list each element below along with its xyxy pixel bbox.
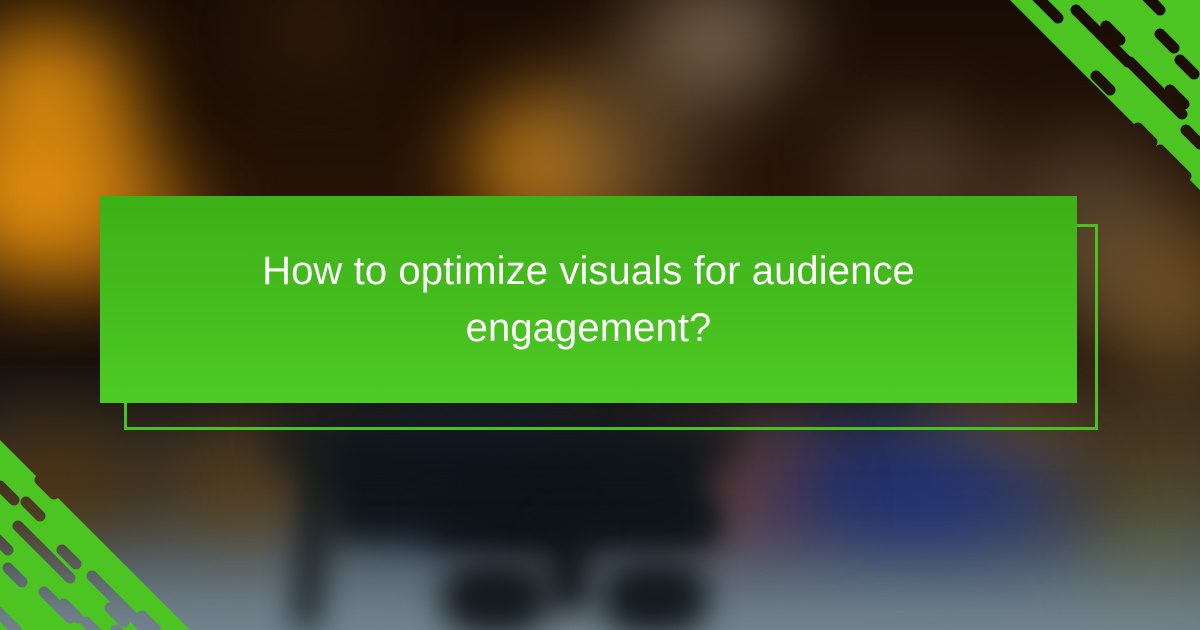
page-title: How to optimize visuals for audience eng… [229,243,949,357]
tripod-column-silhouette [545,520,591,610]
title-card: How to optimize visuals for audience eng… [100,196,1077,403]
tripod-leg-center-silhouette [440,560,550,630]
share-card-canvas: How to optimize visuals for audience eng… [0,0,1200,630]
tripod-leg-right-silhouette [600,560,710,630]
